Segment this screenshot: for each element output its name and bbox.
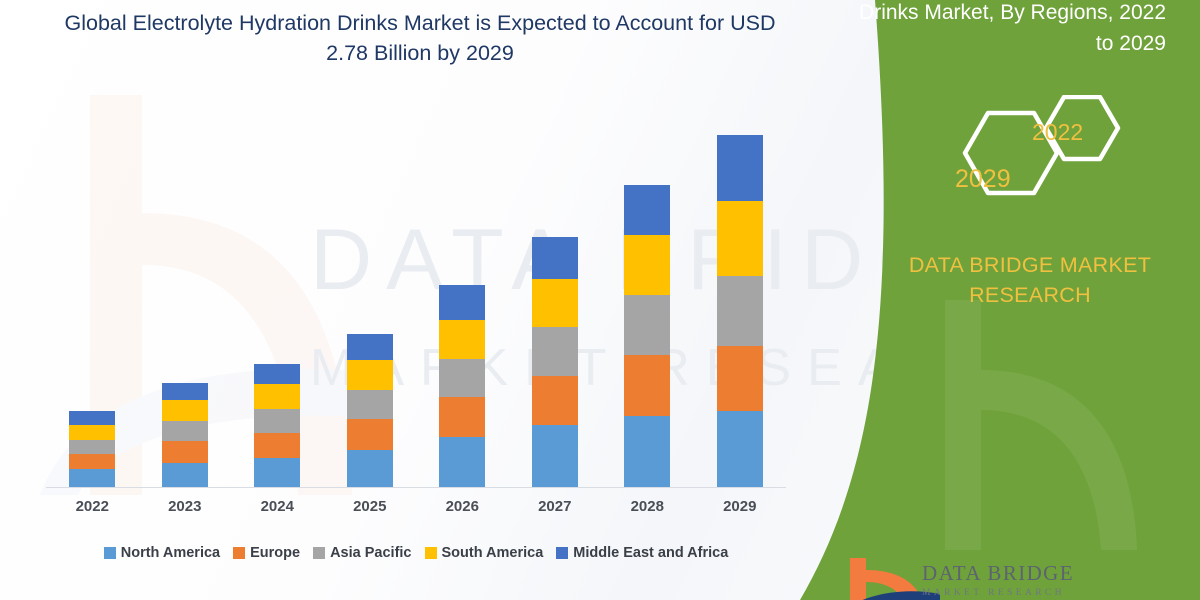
bar-column: [62, 411, 122, 488]
legend-label: Europe: [250, 545, 300, 561]
x-axis-labels: 20222023202420252026202720282029: [46, 498, 786, 524]
bar-column: [340, 334, 400, 488]
bar-segment: [162, 421, 208, 441]
bar-segment: [69, 411, 115, 425]
legend-swatch-icon: [313, 547, 325, 559]
bar-segment: [347, 334, 393, 359]
x-axis-label: 2027: [525, 498, 585, 524]
bar-segment: [624, 355, 670, 416]
brand-name: DATA BRIDGE MARKET RESEARCH: [880, 250, 1180, 310]
bar-segment: [254, 458, 300, 488]
green-panel-heading-line-3: to 2029: [816, 28, 1166, 59]
x-axis-label: 2025: [340, 498, 400, 524]
logo-subtext: MARKET RESEARCH: [922, 588, 1065, 598]
bar-segment: [347, 360, 393, 390]
page-title: Global Electrolyte Hydration Drinks Mark…: [60, 8, 780, 68]
brand-line-1: DATA BRIDGE MARKET: [880, 250, 1180, 280]
bar-column: [155, 383, 215, 488]
chart-legend: North AmericaEuropeAsia PacificSouth Ame…: [46, 540, 786, 566]
legend-item[interactable]: Europe: [233, 545, 300, 561]
bar-column: [247, 364, 307, 488]
x-axis-label: 2026: [432, 498, 492, 524]
bar-segment: [162, 463, 208, 488]
bar-segment: [717, 135, 763, 201]
bar-segment: [347, 419, 393, 449]
bar-segment: [347, 450, 393, 488]
infographic-canvas: DATA BRIDGE MARKET RESEARCH Global Elect…: [0, 0, 1200, 600]
bar-segment: [439, 320, 485, 358]
bar-segment: [532, 376, 578, 424]
bar-segment: [717, 346, 763, 411]
bar-segment: [624, 416, 670, 488]
bar-segment: [532, 237, 578, 279]
bar-segment: [532, 327, 578, 377]
legend-swatch-icon: [104, 547, 116, 559]
bar-segment: [717, 411, 763, 488]
bar-segment: [162, 441, 208, 463]
bar-segment: [532, 425, 578, 488]
legend-label: Asia Pacific: [330, 545, 411, 561]
hexagon-label-2029: 2029: [955, 165, 1011, 194]
x-axis-label: 2023: [155, 498, 215, 524]
bar-column: [525, 237, 585, 488]
x-axis-label: 2028: [617, 498, 677, 524]
legend-label: South America: [442, 545, 544, 561]
bar-segment: [69, 469, 115, 488]
x-axis-label: 2029: [710, 498, 770, 524]
bar-segment: [347, 390, 393, 419]
legend-label: North America: [121, 545, 220, 561]
bar-segment: [439, 437, 485, 488]
legend-item[interactable]: Asia Pacific: [313, 545, 411, 561]
bar-segment: [254, 364, 300, 384]
bar-segment: [254, 384, 300, 409]
legend-item[interactable]: Middle East and Africa: [556, 545, 728, 561]
bar-segment: [624, 295, 670, 355]
green-panel-heading-line-2: Drinks Market, By Regions, 2022: [816, 0, 1166, 28]
bar-column: [432, 285, 492, 488]
legend-label: Middle East and Africa: [573, 545, 728, 561]
bar-column: [617, 185, 677, 488]
hexagon-label-2022: 2022: [1032, 119, 1083, 146]
legend-item[interactable]: South America: [425, 545, 544, 561]
logo-text: DATA BRIDGE: [922, 561, 1074, 586]
legend-swatch-icon: [425, 547, 437, 559]
bar-segment: [162, 383, 208, 401]
x-axis-label: 2024: [247, 498, 307, 524]
green-panel-heading: Global Electrolyte Hydration Drinks Mark…: [816, 0, 1166, 59]
x-axis-line: [46, 487, 786, 488]
bar-segment: [69, 454, 115, 469]
bar-segment: [717, 201, 763, 276]
bar-segment: [439, 397, 485, 438]
bar-chart: [46, 110, 786, 488]
bar-segment: [439, 359, 485, 397]
bar-group: [46, 110, 786, 488]
bar-segment: [532, 279, 578, 327]
brand-line-2: RESEARCH: [880, 280, 1180, 310]
x-axis-label: 2022: [62, 498, 122, 524]
legend-swatch-icon: [233, 547, 245, 559]
bar-segment: [717, 276, 763, 346]
bar-segment: [439, 285, 485, 321]
bar-segment: [69, 440, 115, 454]
bar-segment: [254, 433, 300, 457]
bar-segment: [624, 235, 670, 295]
bar-segment: [254, 409, 300, 433]
bar-segment: [624, 185, 670, 236]
bar-segment: [162, 400, 208, 420]
bar-segment: [69, 425, 115, 440]
bar-column: [710, 135, 770, 488]
legend-item[interactable]: North America: [104, 545, 220, 561]
legend-swatch-icon: [556, 547, 568, 559]
